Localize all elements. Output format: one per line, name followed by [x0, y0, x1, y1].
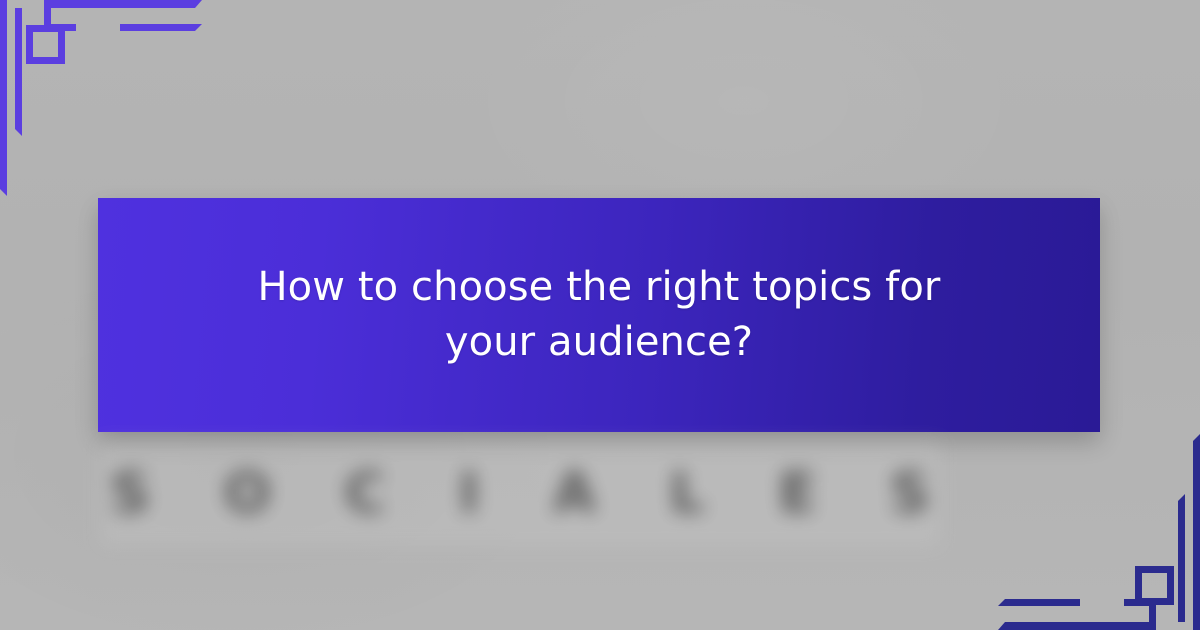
ornament-line-horizontal-bottom: [998, 622, 1156, 630]
ornament-square-outline: [1135, 566, 1174, 605]
ornament-line-horizontal-top: [44, 0, 202, 8]
corner-ornament-top-left: [0, 0, 230, 200]
wordmark-letter: A: [553, 466, 596, 522]
ornament-line-horizontal-inner-left: [998, 599, 1080, 606]
title-banner: How to choose the right topics for your …: [98, 198, 1100, 432]
ornament-square-outline: [26, 25, 65, 64]
wordmark-letter: L: [669, 466, 705, 522]
wordmark-letter: S: [110, 466, 150, 522]
poster-canvas: How to choose the right topics for your …: [0, 0, 1200, 630]
wordmark-letter: O: [224, 466, 272, 522]
wordmark-letter: E: [778, 466, 816, 522]
corner-ornament-bottom-right: [970, 430, 1200, 630]
wordmark-letter: C: [344, 466, 385, 522]
wordmark-letter: S: [890, 466, 930, 522]
ornament-line-vertical-inner: [1178, 494, 1185, 622]
ornament-line-vertical-outer: [1193, 434, 1200, 630]
wordmark-letter: I: [459, 466, 480, 522]
ornament-line-horizontal-inner-right: [120, 24, 202, 31]
page-title: How to choose the right topics for your …: [249, 260, 949, 370]
ornament-line-vertical-inner: [15, 8, 22, 136]
blurred-wordmark: S O C I A L E S: [110, 448, 930, 540]
ornament-line-vertical-outer: [0, 0, 7, 196]
